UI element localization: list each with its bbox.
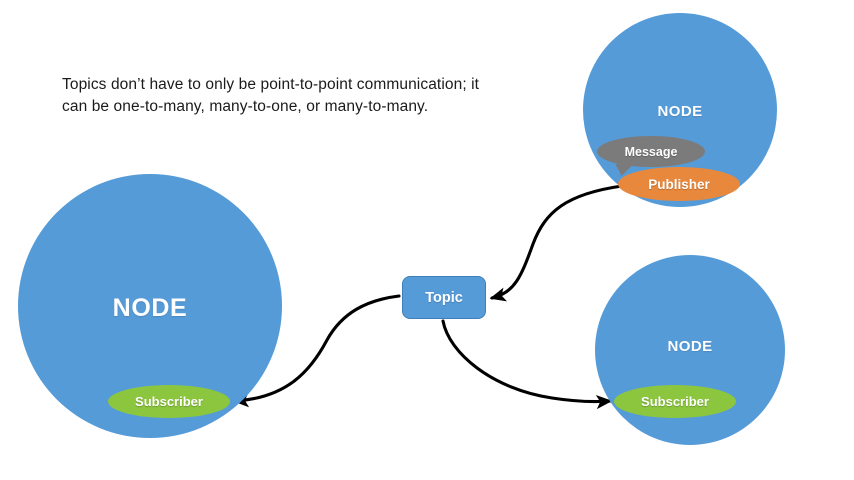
- subscriber-left-node[interactable]: Subscriber: [108, 385, 230, 418]
- node-top-right-label: NODE: [583, 103, 777, 120]
- edge-publisher-to-topic: [492, 186, 622, 298]
- subscriber-left-label: Subscriber: [135, 394, 203, 409]
- caption-text: Topics don’t have to only be point-to-po…: [62, 74, 482, 118]
- edge-topic-to-right-subscriber: [443, 321, 610, 402]
- publisher-label: Publisher: [648, 177, 710, 192]
- slide-canvas: Topics don’t have to only be point-to-po…: [0, 0, 854, 480]
- message-label: Message: [625, 145, 678, 159]
- node-left-label: NODE: [18, 294, 282, 323]
- topic-box[interactable]: Topic: [402, 276, 486, 319]
- subscriber-right-node[interactable]: Subscriber: [614, 385, 736, 418]
- subscriber-right-label: Subscriber: [641, 394, 709, 409]
- topic-label: Topic: [425, 290, 463, 306]
- publisher-node[interactable]: Publisher: [618, 167, 740, 201]
- node-bottom-right-label: NODE: [595, 338, 785, 355]
- message-callout[interactable]: Message: [597, 136, 705, 167]
